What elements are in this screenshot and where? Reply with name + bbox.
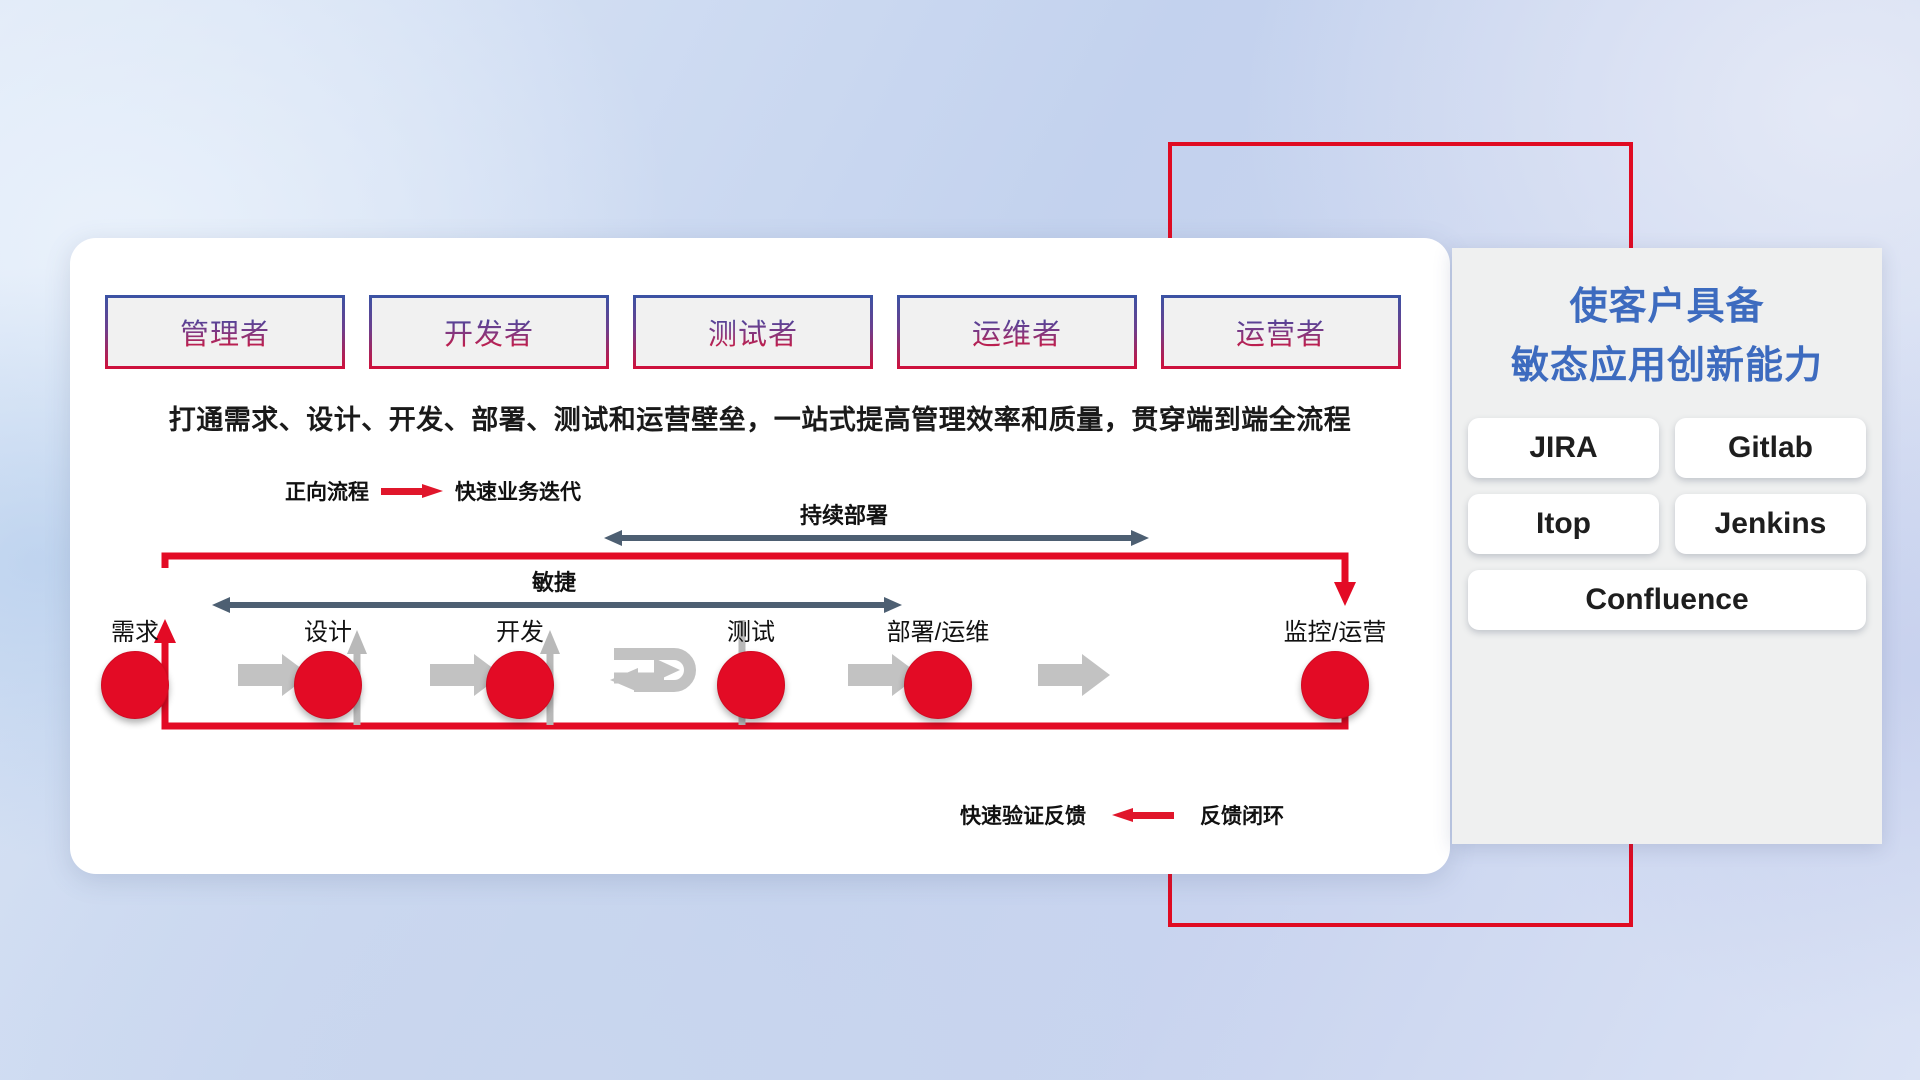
role-label: 管理者 [180, 311, 270, 353]
stage-dot [1301, 651, 1369, 719]
role-box-developer[interactable]: 开发者 [372, 298, 606, 366]
panel-title: 使客户具备 敏态应用创新能力 [1452, 248, 1882, 396]
pipeline-stage-monitor-operations[interactable]: 监控/运营 [1255, 612, 1415, 719]
tool-tag-label: JIRA [1529, 431, 1597, 465]
agile-double-arrow-icon [212, 597, 902, 613]
tool-tag-label: Itop [1536, 507, 1591, 541]
panel-title-line1: 使客户具备 [1452, 278, 1882, 337]
tool-tag-label: Gitlab [1728, 431, 1813, 465]
role-label: 运维者 [972, 311, 1062, 353]
tool-tag-itop[interactable]: Itop [1468, 494, 1659, 554]
role-label: 开发者 [444, 311, 534, 353]
pipeline-stage-develop[interactable]: 开发 [455, 612, 585, 719]
devops-pipeline: 需求 设计 开发 测试 部署/运维 监控/运营 [108, 612, 1398, 742]
stage-dot [101, 651, 169, 719]
role-box-tester[interactable]: 测试者 [636, 298, 870, 366]
pipeline-stage-requirements[interactable]: 需求 [70, 612, 200, 719]
stage-label: 监控/运营 [1255, 612, 1415, 647]
stage-label: 需求 [70, 612, 200, 647]
chevron-arrow-icon [1038, 652, 1110, 698]
tool-tag-jenkins[interactable]: Jenkins [1675, 494, 1866, 554]
role-box-operations[interactable]: 运营者 [1164, 298, 1398, 366]
role-box-ops[interactable]: 运维者 [900, 298, 1134, 366]
red-left-arrow-icon [1112, 808, 1174, 822]
feedback-loop-legend: 快速验证反馈 反馈闭环 [960, 800, 1284, 830]
pipeline-stage-test[interactable]: 测试 [686, 612, 816, 719]
tool-tag-label: Jenkins [1715, 507, 1827, 541]
tool-tag-label: Confluence [1585, 583, 1748, 617]
role-box-row: 管理者 开发者 测试者 运维者 运营者 [108, 298, 1398, 366]
forward-flow-legend: 正向流程 快速业务迭代 [285, 476, 581, 506]
role-box-manager[interactable]: 管理者 [108, 298, 342, 366]
forward-flow-source-label: 正向流程 [285, 476, 369, 506]
pipeline-stage-design[interactable]: 设计 [263, 612, 393, 719]
stage-dot [904, 651, 972, 719]
forward-flow-target-label: 快速业务迭代 [455, 476, 581, 506]
tool-tag-jira[interactable]: JIRA [1468, 418, 1659, 478]
tool-tag-list: JIRA Gitlab Itop Jenkins Confluence [1468, 418, 1866, 630]
pipeline-stage-deploy-ops[interactable]: 部署/运维 [873, 612, 1003, 719]
feedback-source-label: 反馈闭环 [1200, 800, 1284, 830]
tool-tag-confluence[interactable]: Confluence [1468, 570, 1866, 630]
panel-title-line2: 敏态应用创新能力 [1452, 337, 1882, 396]
red-right-arrow-icon [381, 484, 443, 498]
stage-label: 开发 [455, 612, 585, 647]
tool-tag-gitlab[interactable]: Gitlab [1675, 418, 1866, 478]
stage-dot [294, 651, 362, 719]
continuous-deploy-double-arrow-icon [604, 530, 1149, 546]
capability-panel: 使客户具备 敏态应用创新能力 JIRA Gitlab Itop Jenkins … [1452, 248, 1882, 844]
stage-dot [717, 651, 785, 719]
stage-dot [486, 651, 554, 719]
agile-label: 敏捷 [532, 565, 576, 597]
role-label: 运营者 [1236, 311, 1326, 353]
description-text: 打通需求、设计、开发、部署、测试和运营壁垒，一站式提高管理效率和质量，贯穿端到端… [70, 398, 1450, 437]
stage-label: 部署/运维 [873, 612, 1003, 647]
role-label: 测试者 [708, 311, 798, 353]
feedback-target-label: 快速验证反馈 [960, 800, 1086, 830]
stage-label: 设计 [263, 612, 393, 647]
stage-label: 测试 [686, 612, 816, 647]
continuous-deploy-label: 持续部署 [800, 498, 888, 530]
